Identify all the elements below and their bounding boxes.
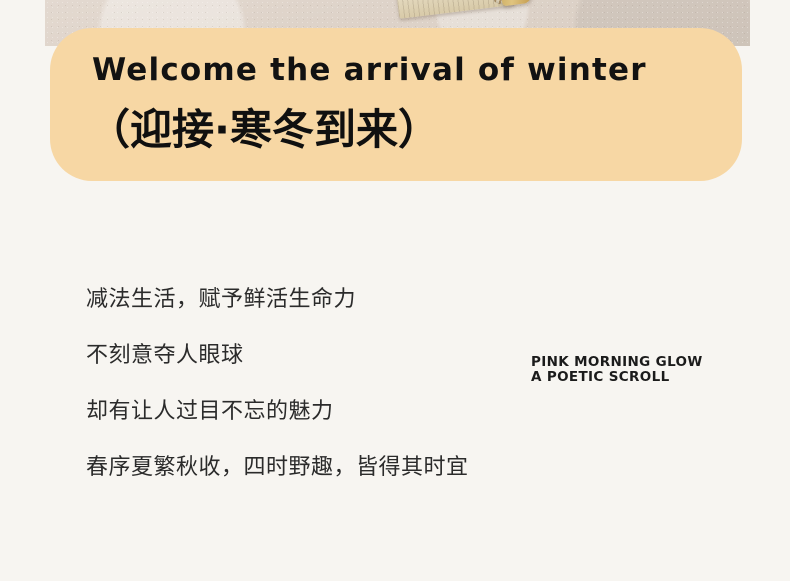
brand-stamp-line-1: PINK MORNING GLOW xyxy=(531,355,703,370)
hero-banner: Welcome the arrival of winter （迎接·寒冬到来） xyxy=(50,28,742,181)
poem-line-3: 却有让人过目不忘的魅力 xyxy=(86,384,606,440)
brand-stamp-line-2: A POETIC SCROLL xyxy=(531,370,703,385)
poem-line-4: 春序夏繁秋收，四时野趣，皆得其时宜 xyxy=(86,440,606,496)
brand-stamp: PINK MORNING GLOW A POETIC SCROLL xyxy=(531,355,703,385)
hero-title-chinese: （迎接·寒冬到来） xyxy=(88,96,440,157)
hero-title-english: Welcome the arrival of winter xyxy=(92,52,647,88)
poem-line-1: 减法生活，赋予鲜活生命力 xyxy=(86,272,606,328)
poem-block: 减法生活，赋予鲜活生命力 不刻意夺人眼球 却有让人过目不忘的魅力 春序夏繁秋收，… xyxy=(86,272,606,496)
poem-line-2: 不刻意夺人眼球 xyxy=(86,328,606,384)
